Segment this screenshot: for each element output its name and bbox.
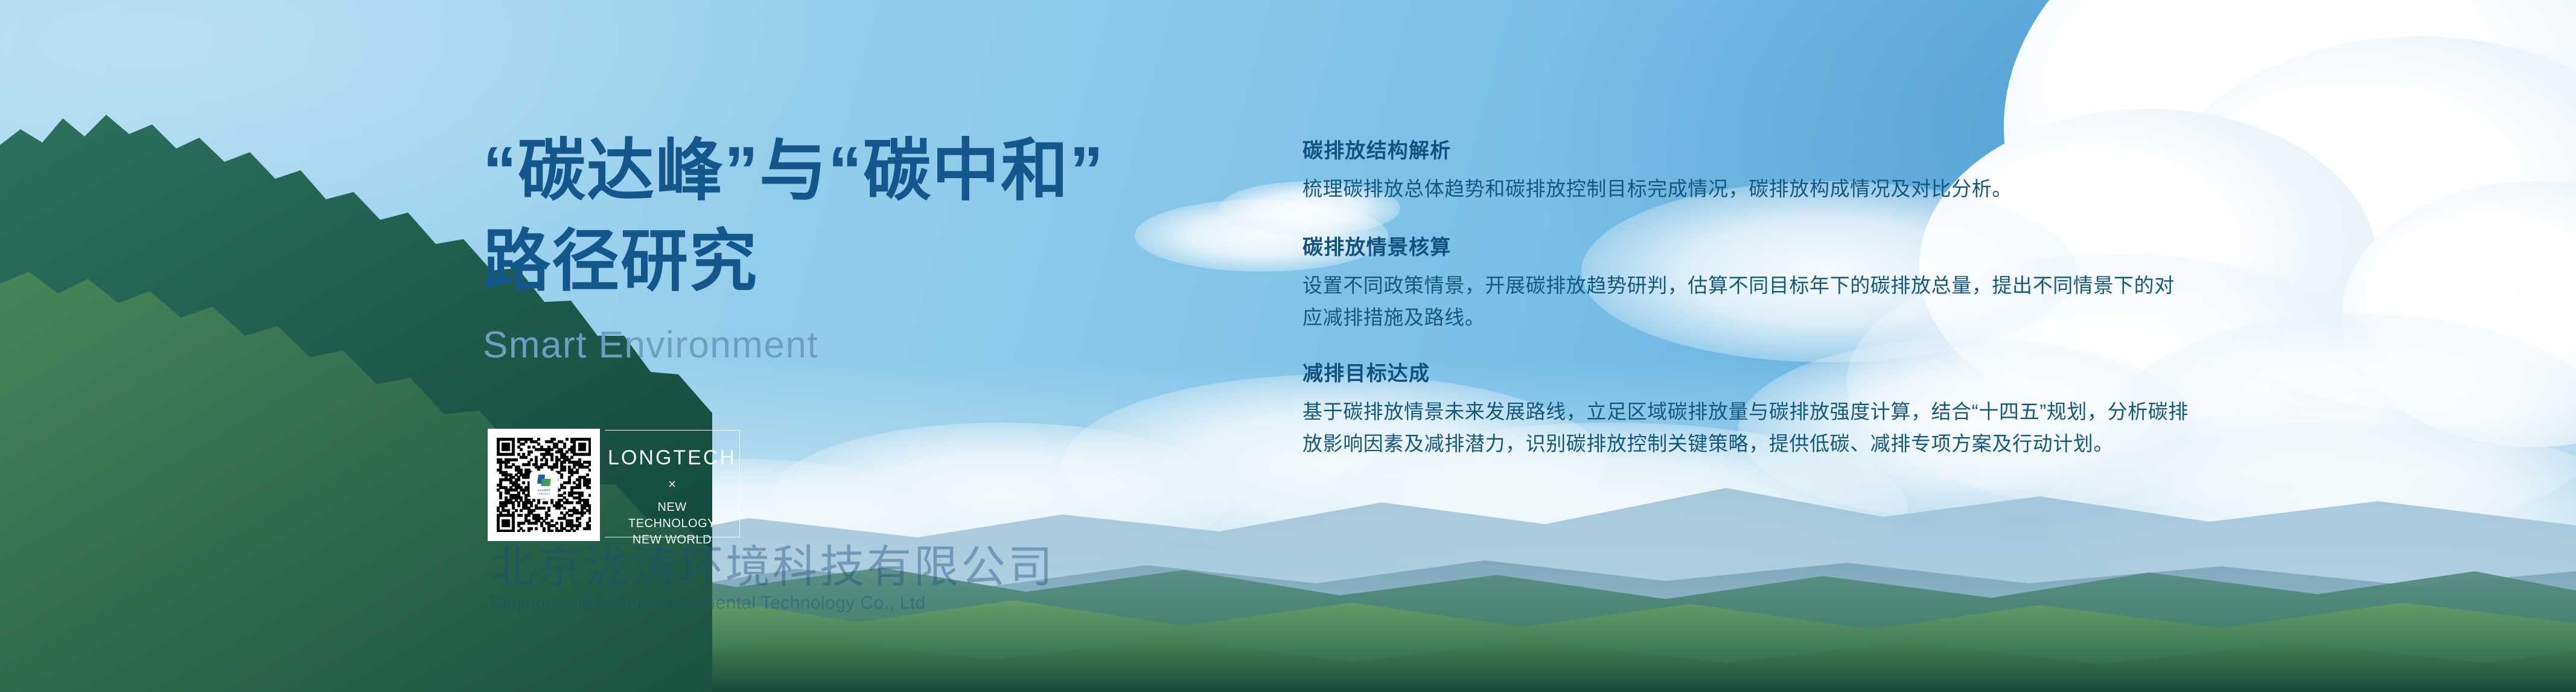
section-heading: 减排目标达成 (1302, 360, 2190, 387)
qr-code-card[interactable]: 北京泷涛环境 LONGTECH (488, 429, 600, 541)
qr-logo-caption-en: LONGTECH (538, 493, 550, 495)
section-body: 梳理碳排放总体趋势和碳排放控制目标完成情况，碳排放构成情况及对比分析。 (1302, 173, 2190, 205)
qr-center-logo: 北京泷涛环境 LONGTECH (531, 472, 557, 498)
section-body: 基于碳排放情景未来发展路线，立足区域碳排放量与碳排放强度计算，结合“十四五”规划… (1302, 396, 2190, 460)
section-heading: 碳排放情景核算 (1302, 234, 2190, 261)
section-carbon-structure: 碳排放结构解析 梳理碳排放总体趋势和碳排放控制目标完成情况，碳排放构成情况及对比… (1302, 138, 2190, 205)
section-gap (1302, 205, 2190, 234)
cross-icon: × (668, 478, 676, 491)
qr-brand-block: 北京泷涛环境 LONGTECH LONGTECH × NEW TECHNOLOG… (488, 429, 741, 543)
section-heading: 碳排放结构解析 (1302, 138, 2190, 164)
feature-sections-column: 碳排放结构解析 梳理碳排放总体趋势和碳排放控制目标完成情况，碳排放构成情况及对比… (1302, 138, 2190, 460)
section-gap (1302, 334, 2190, 360)
company-name-cn: 北京泷涛环境科技有限公司 (490, 543, 913, 591)
title-line-2: 路径研究 (483, 216, 1231, 307)
section-reduction-target: 减排目标达成 基于碳排放情景未来发展路线，立足区域碳排放量与碳排放强度计算，结合… (1302, 360, 2190, 460)
longtech-tagline-panel: LONGTECH × NEW TECHNOLOGY NEW WORLD (605, 430, 740, 537)
tagline-line-2: TECHNOLOGY (628, 516, 716, 532)
section-scenario-accounting: 碳排放情景核算 设置不同政策情景，开展碳排放趋势研判，估算不同目标年下的碳排放总… (1302, 234, 2190, 334)
longtech-brand-name: LONGTECH (608, 447, 736, 468)
banner-title-group: “碳达峰”与“碳中和” 路径研究 Smart Environment (483, 126, 1231, 367)
section-body: 设置不同政策情景，开展碳排放趋势研判，估算不同目标年下的碳排放总量，提出不同情景… (1302, 269, 2190, 334)
tagline-line-1: NEW (628, 499, 716, 516)
title-line-1: “碳达峰”与“碳中和” (483, 126, 1231, 216)
company-watermark: 北京泷涛环境科技有限公司 Beijing LongTech Environmen… (490, 543, 913, 614)
longtech-logo-icon (537, 475, 551, 488)
banner-subtitle: Smart Environment (483, 324, 1231, 367)
carbon-peak-banner: “碳达峰”与“碳中和” 路径研究 Smart Environment 北京泷涛环… (0, 0, 2576, 692)
qr-logo-caption-cn: 北京泷涛环境 (537, 489, 550, 492)
company-name-en: Beijing LongTech Environmental Technolog… (490, 593, 913, 614)
longtech-tagline: NEW TECHNOLOGY NEW WORLD (628, 499, 716, 548)
